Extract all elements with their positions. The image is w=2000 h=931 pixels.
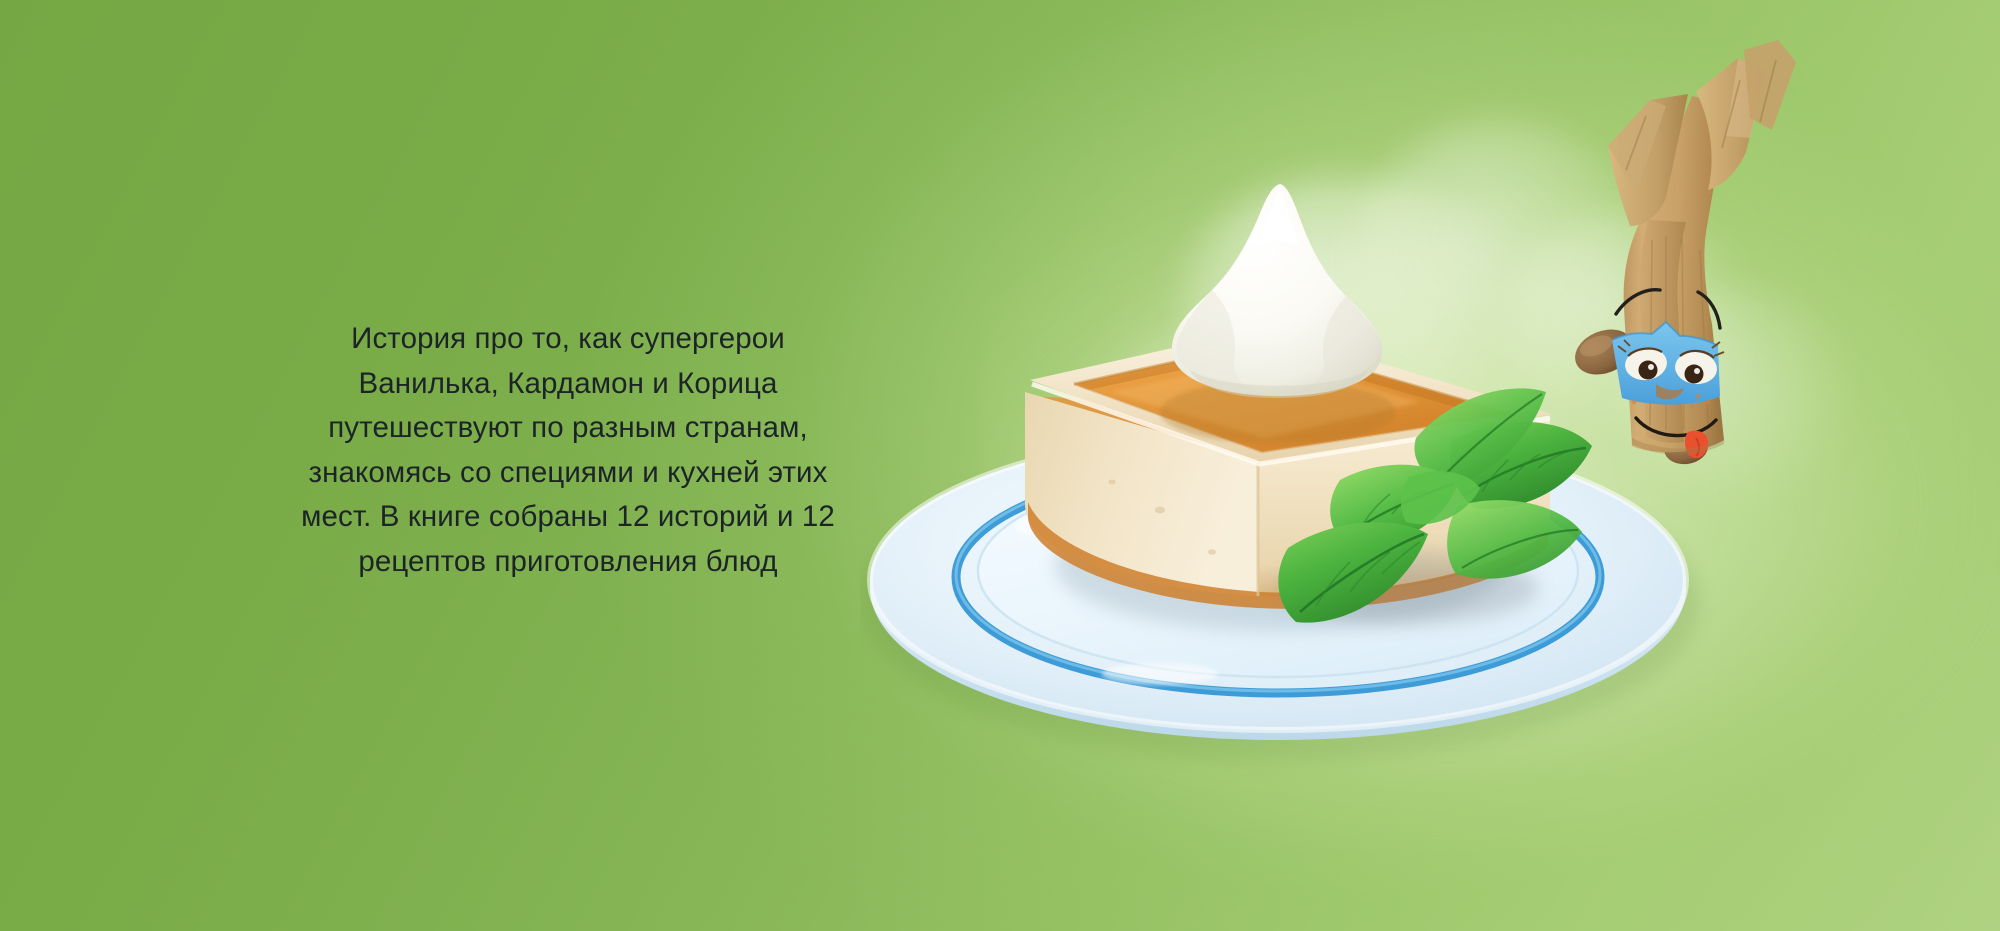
promo-banner: История про то, как супергерои Ванилька,… [0, 0, 2000, 931]
book-description-text: История про то, как супергерои Ванилька,… [228, 317, 908, 584]
